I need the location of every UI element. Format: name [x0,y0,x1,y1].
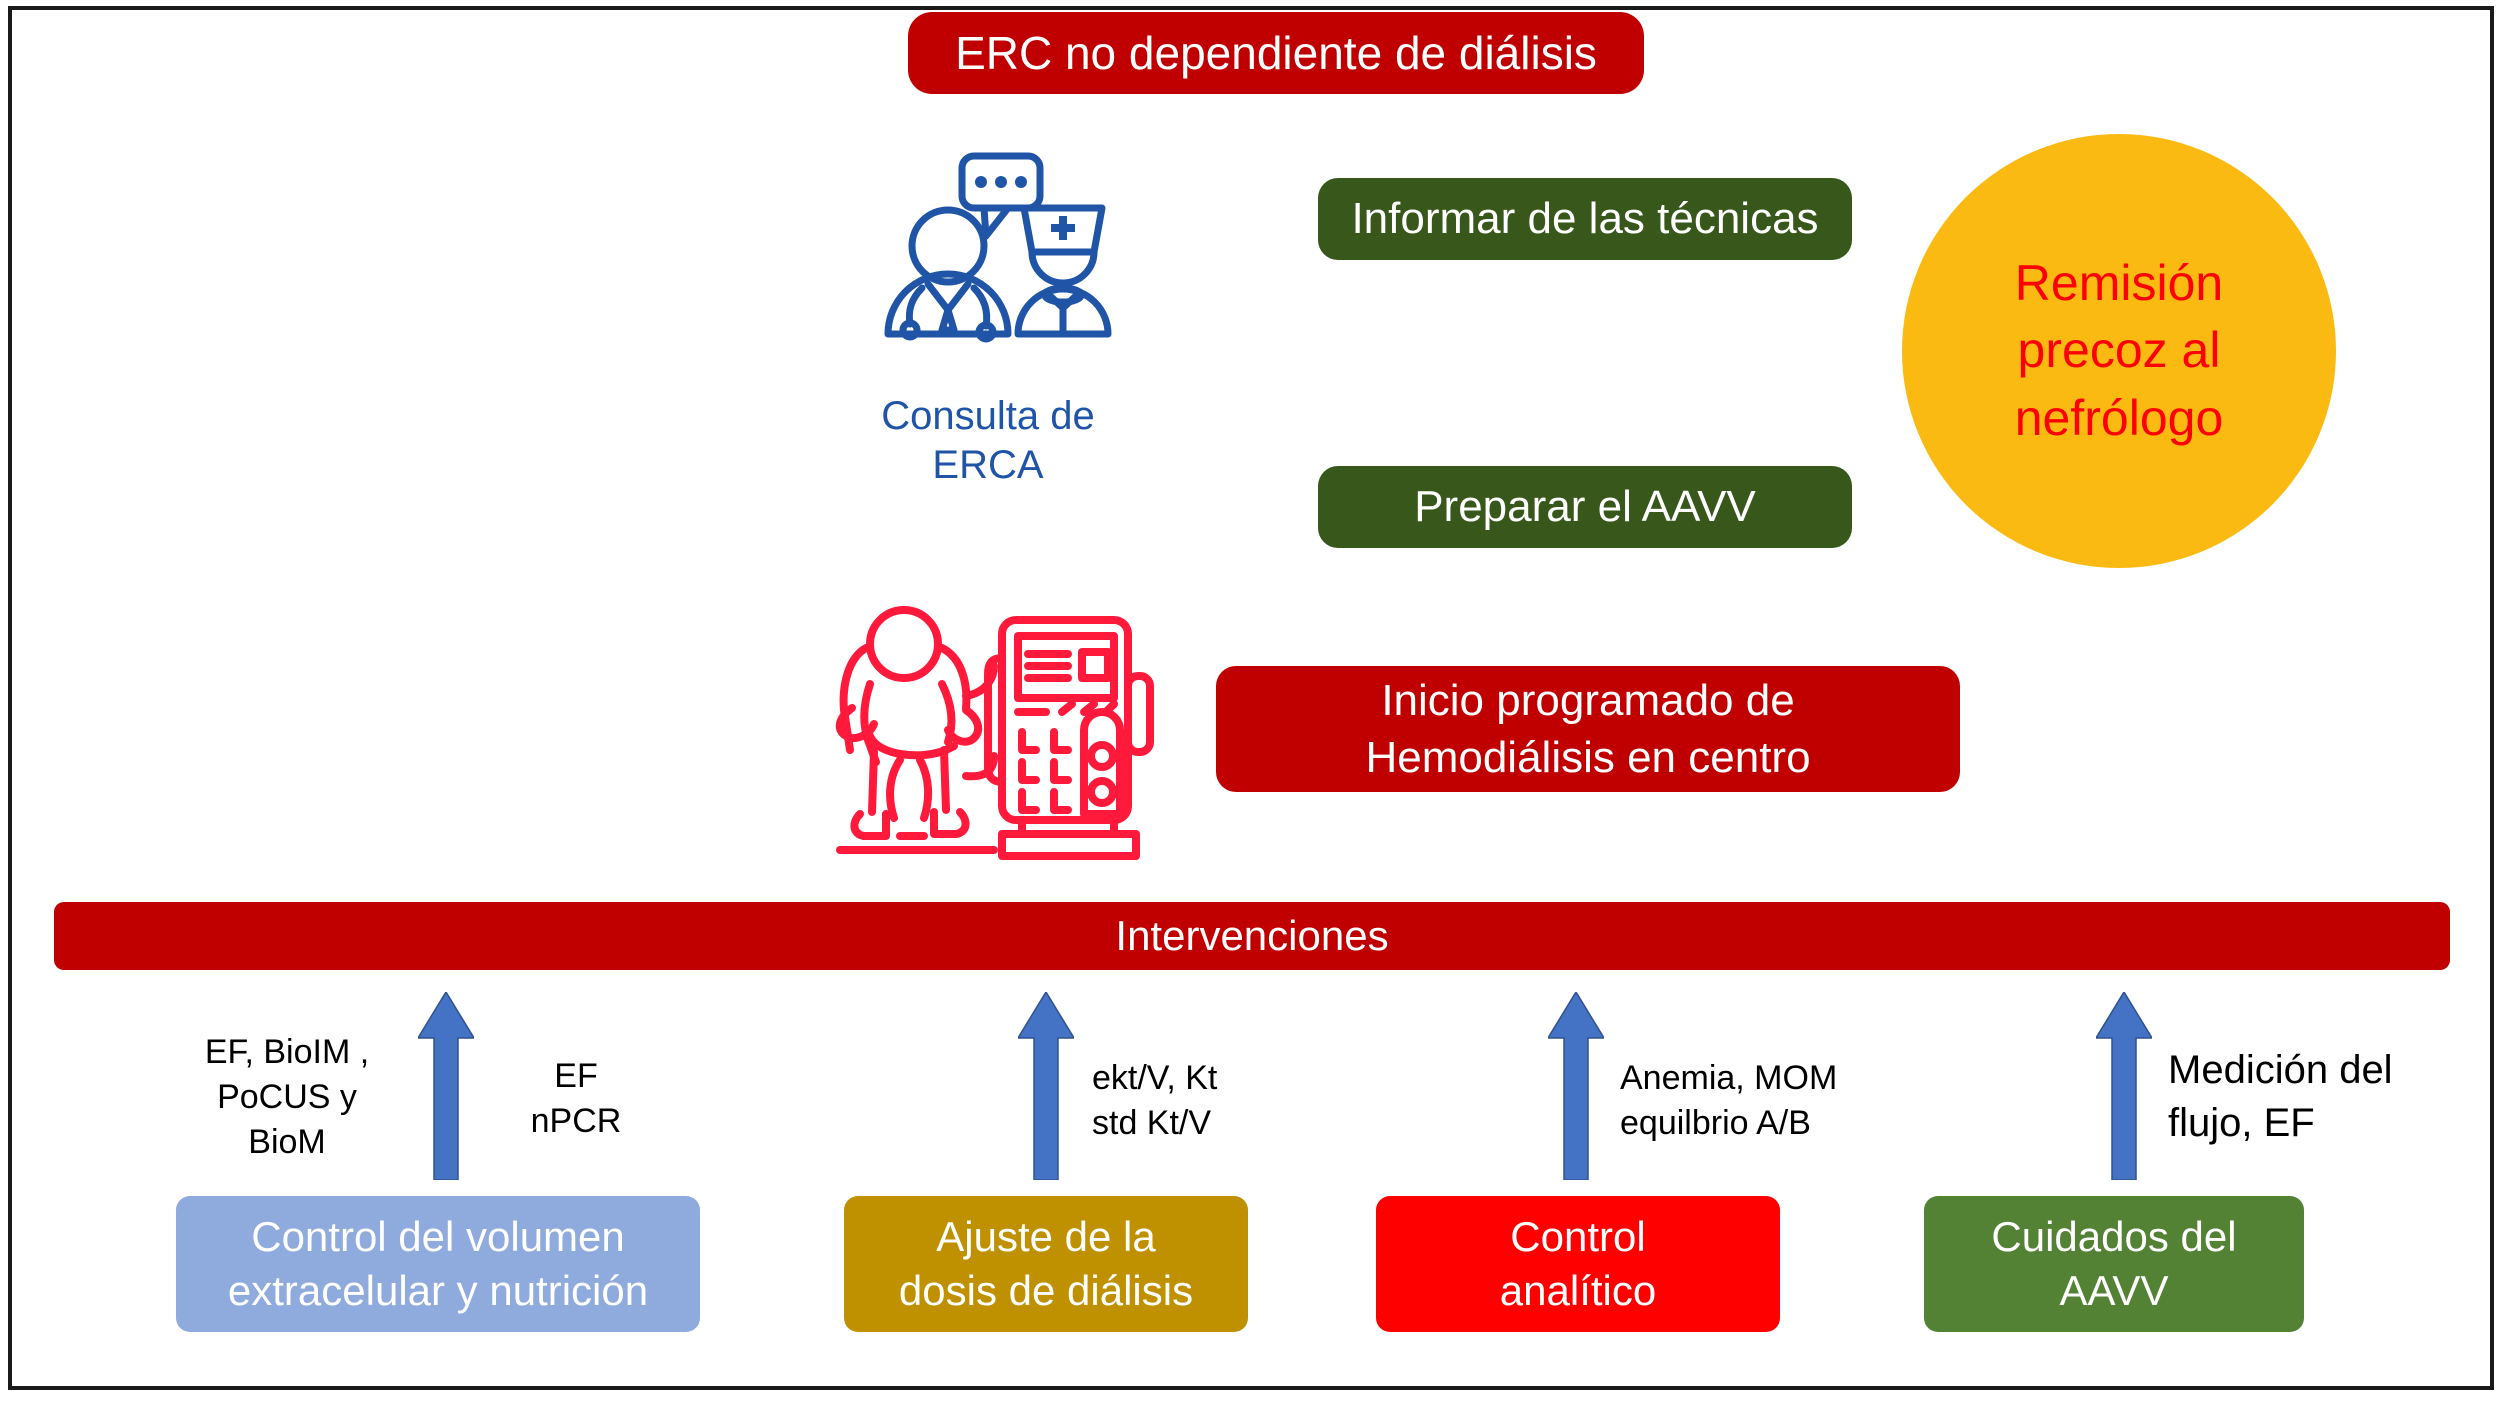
action-box-inicio-hemodialisis: Inicio programado de Hemodiálisis en cen… [1216,666,1960,792]
action-box-informar-tecnicas: Informar de las técnicas [1318,178,1852,260]
consulta-erca-caption: Consulta de ERCA [828,392,1148,490]
consulta-caption-line1: Consulta de [828,392,1148,441]
highlight-line1: Remisión [2015,250,2224,318]
action-label: Preparar el AAVV [1414,481,1756,533]
annotation-ajuste-dosis-right: ekt/V, Kt std Kt/V [1092,1056,1342,1146]
arrow-up-control-volumen [418,992,474,1180]
intervention-box-control-volumen: Control del volumen extracelular y nutri… [176,1196,700,1332]
intervention-box-cuidados-aavv: Cuidados del AAVV [1924,1196,2304,1332]
red-action-line2: Hemodiálisis en centro [1365,729,1810,786]
intervention-box-ajuste-dosis: Ajuste de la dosis de diálisis [844,1196,1248,1332]
highlight-circle-remision-precoz: Remisión precoz al nefrólogo [1902,134,2336,568]
intervention-line1: Control [1500,1210,1656,1264]
arrow-up-control-analitico [1548,992,1604,1180]
intervention-line2: AAVV [1991,1264,2236,1318]
intervention-line1: Cuidados del [1991,1210,2236,1264]
consulta-erca-group: Consulta de ERCA [828,152,1148,512]
intervention-line2: analítico [1500,1264,1656,1318]
doctor-nurse-consultation-icon [866,152,1116,388]
red-action-line1: Inicio programado de [1365,672,1810,729]
intervenciones-label: Intervenciones [1115,911,1388,961]
action-box-preparar-aavv: Preparar el AAVV [1318,466,1852,548]
intervention-line2: extracelular y nutrición [228,1264,648,1318]
annotation-control-volumen-left: EF, BioIM , PoCUS y BioM [172,1030,402,1165]
diagram-canvas: ERC no dependiente de diálisis [0,0,2508,1402]
arrow-up-ajuste-dosis [1018,992,1074,1180]
arrow-up-cuidados-aavv [2096,992,2152,1180]
intervention-box-control-analitico: Control analítico [1376,1196,1780,1332]
intervention-line1: Control del volumen [228,1210,648,1264]
consulta-caption-line2: ERCA [828,441,1148,490]
annotation-cuidados-aavv-right: Medición del flujo, EF [2168,1044,2498,1150]
annotation-control-analitico-right: Anemia, MOM equilbrio A/B [1620,1056,1920,1146]
intervention-line2: dosis de diálisis [899,1264,1193,1318]
annotation-control-volumen-right: EF nPCR [486,1054,666,1144]
intervention-line1: Ajuste de la [899,1210,1193,1264]
intervenciones-bar: Intervenciones [54,902,2450,970]
patient-dialysis-machine-icon [826,600,1176,862]
action-label: Informar de las técnicas [1351,193,1818,245]
title-banner: ERC no dependiente de diálisis [908,12,1644,94]
highlight-line2: precoz al [2015,317,2224,385]
highlight-line3: nefrólogo [2015,385,2224,453]
title-banner-label: ERC no dependiente de diálisis [955,26,1597,80]
